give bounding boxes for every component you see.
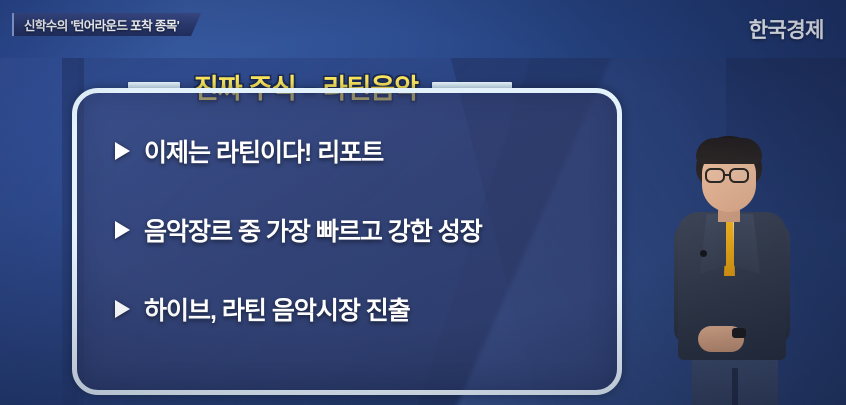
triangle-bullet-icon	[115, 221, 130, 239]
presenter-lapel-microphone-icon	[700, 250, 707, 257]
presenter-figure	[640, 130, 846, 405]
list-item: 이제는 라틴이다! 리포트	[97, 133, 597, 169]
presenter-glasses-right-lens	[729, 168, 749, 183]
network-logo: 한국경제	[749, 14, 824, 44]
list-item: 하이브, 라틴 음악시장 진출	[97, 291, 597, 327]
presenter-wristwatch	[732, 328, 746, 338]
bullet-text: 음악장르 중 가장 빠르고 강한 성장	[144, 212, 482, 248]
presenter-hair-front	[696, 138, 762, 164]
presenter-glasses-bridge	[724, 174, 731, 176]
broadcast-stage: 신학수의 '턴어라운드 포착 종목' 한국경제 진짜 주식 – 라틴음악 이제는…	[0, 0, 846, 405]
bullet-text: 이제는 라틴이다! 리포트	[144, 133, 383, 169]
list-item: 음악장르 중 가장 빠르고 강한 성장	[97, 212, 597, 248]
presenter-glasses-left-lens	[705, 168, 725, 183]
program-title-banner: 신학수의 '턴어라운드 포착 종목'	[12, 13, 201, 36]
program-title-text: 신학수의 '턴어라운드 포착 종목'	[24, 15, 179, 34]
triangle-bullet-icon	[115, 300, 130, 318]
presenter-jeans-seam	[732, 368, 738, 405]
triangle-bullet-icon	[115, 142, 130, 160]
bullet-text: 하이브, 라틴 음악시장 진출	[144, 291, 410, 327]
slide-content-panel: 이제는 라틴이다! 리포트 음악장르 중 가장 빠르고 강한 성장 하이브, 라…	[72, 88, 622, 395]
bullet-list: 이제는 라틴이다! 리포트 음악장르 중 가장 빠르고 강한 성장 하이브, 라…	[77, 93, 617, 390]
